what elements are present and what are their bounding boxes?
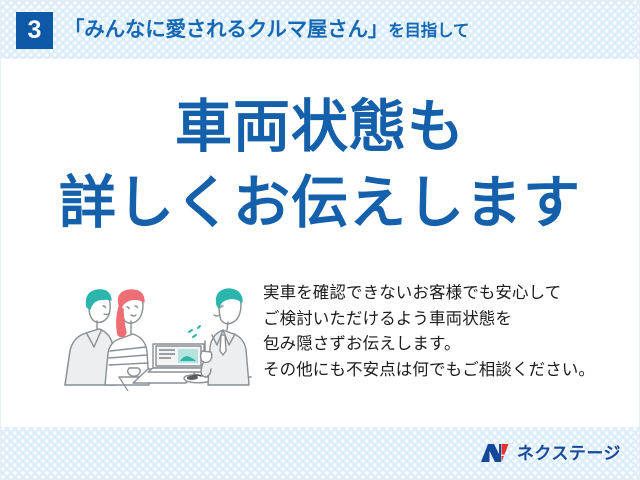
header-title: 「みんなに愛されるクルマ屋さん」を目指して — [64, 20, 469, 41]
header-band: 3 「みんなに愛されるクルマ屋さん」を目指して — [1, 1, 639, 59]
nexstage-n-logo-icon — [480, 442, 510, 464]
promo-panel: 3 「みんなに愛されるクルマ屋さん」を目指して 車両状態も 詳しくお伝えします — [0, 0, 640, 480]
body-line-1: 実車を確認できないお客様でも安心して — [263, 281, 595, 307]
body-line-4: その他にも不安点は何でもご相談ください。 — [263, 358, 595, 384]
content-row: 実車を確認できないお客様でも安心して ご検討いただけるよう車両状態を 包み隠さず… — [1, 273, 639, 398]
body-paragraph: 実車を確認できないお客様でも安心して ご検討いただけるよう車両状態を 包み隠さず… — [263, 281, 595, 383]
body-line-3: 包み隠さずお伝えします。 — [263, 332, 595, 358]
headline-line-1: 車両状態も — [1, 89, 639, 165]
headline: 車両状態も 詳しくお伝えします — [1, 89, 639, 241]
headline-line-2: 詳しくお伝えします — [1, 165, 639, 241]
header-content: 3 「みんなに愛されるクルマ屋さん」を目指して — [1, 1, 639, 59]
consultation-illustration — [53, 273, 253, 391]
step-number-badge: 3 — [16, 12, 53, 49]
brand-lockup: ネクステージ — [480, 442, 621, 464]
brand-name: ネクステージ — [517, 445, 621, 462]
header-title-suffix: を目指して — [388, 22, 469, 40]
header-title-main: 「みんなに愛されるクルマ屋さん」 — [64, 18, 388, 41]
body-line-2: ご検討いただけるよう車両状態を — [263, 307, 595, 333]
footer-band: ネクステージ — [1, 427, 639, 479]
